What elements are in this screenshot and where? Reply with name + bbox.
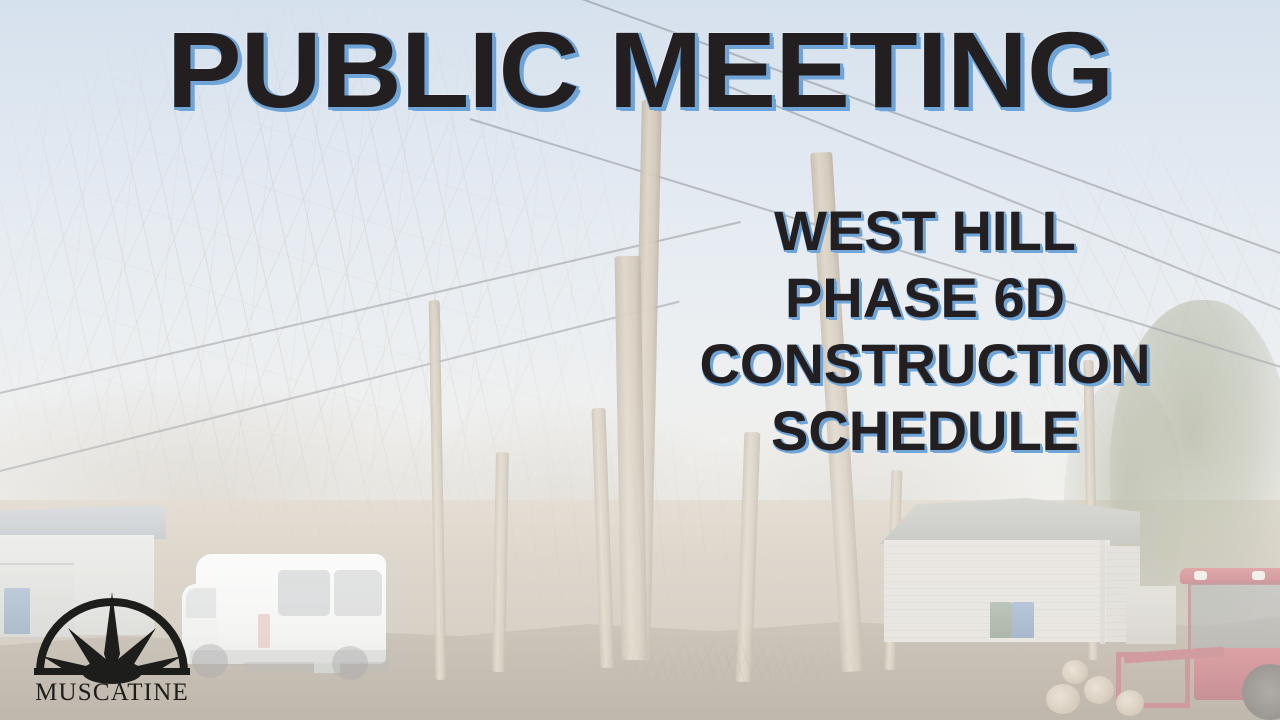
trash-bin-green xyxy=(990,602,1012,638)
cut-log xyxy=(1116,690,1144,716)
muscatine-logo: MUSCATINE xyxy=(28,584,198,706)
red-tractor xyxy=(1168,568,1280,720)
van-window xyxy=(278,570,330,616)
cut-log xyxy=(1046,684,1080,714)
van-window xyxy=(334,570,382,616)
van-wheel xyxy=(332,646,368,680)
thumbnail-card: PUBLIC MEETING WEST HILL PHASE 6D CONSTR… xyxy=(0,0,1280,720)
trash-bin-blue xyxy=(4,588,30,634)
subtitle-line-4: SCHEDULE xyxy=(660,398,1190,465)
roof xyxy=(880,498,1140,544)
subtitle-line-1: WEST HILL xyxy=(660,198,1190,265)
cut-log xyxy=(1084,676,1114,704)
tractor-work-light xyxy=(1194,571,1207,580)
muscatine-sunburst-arch-icon xyxy=(34,592,190,684)
subtitle-block: WEST HILL PHASE 6D CONSTRUCTION SCHEDULE xyxy=(660,198,1190,465)
roof xyxy=(0,505,166,539)
logo-wordmark: MUSCATINE xyxy=(35,679,189,706)
page-title: PUBLIC MEETING xyxy=(0,16,1280,124)
tractor-cab xyxy=(1188,582,1280,652)
subtitle-line-2: PHASE 6D xyxy=(660,265,1190,332)
downspout xyxy=(1100,540,1105,644)
cut-log xyxy=(1062,660,1088,684)
subtitle-line-3: CONSTRUCTION xyxy=(660,331,1190,398)
van-taillight xyxy=(258,614,270,648)
brush-debris xyxy=(560,628,900,698)
trash-bin-blue xyxy=(1012,602,1034,638)
tractor-work-light xyxy=(1252,571,1265,580)
log-pile xyxy=(1040,660,1170,720)
white-cargo-van xyxy=(196,538,404,698)
